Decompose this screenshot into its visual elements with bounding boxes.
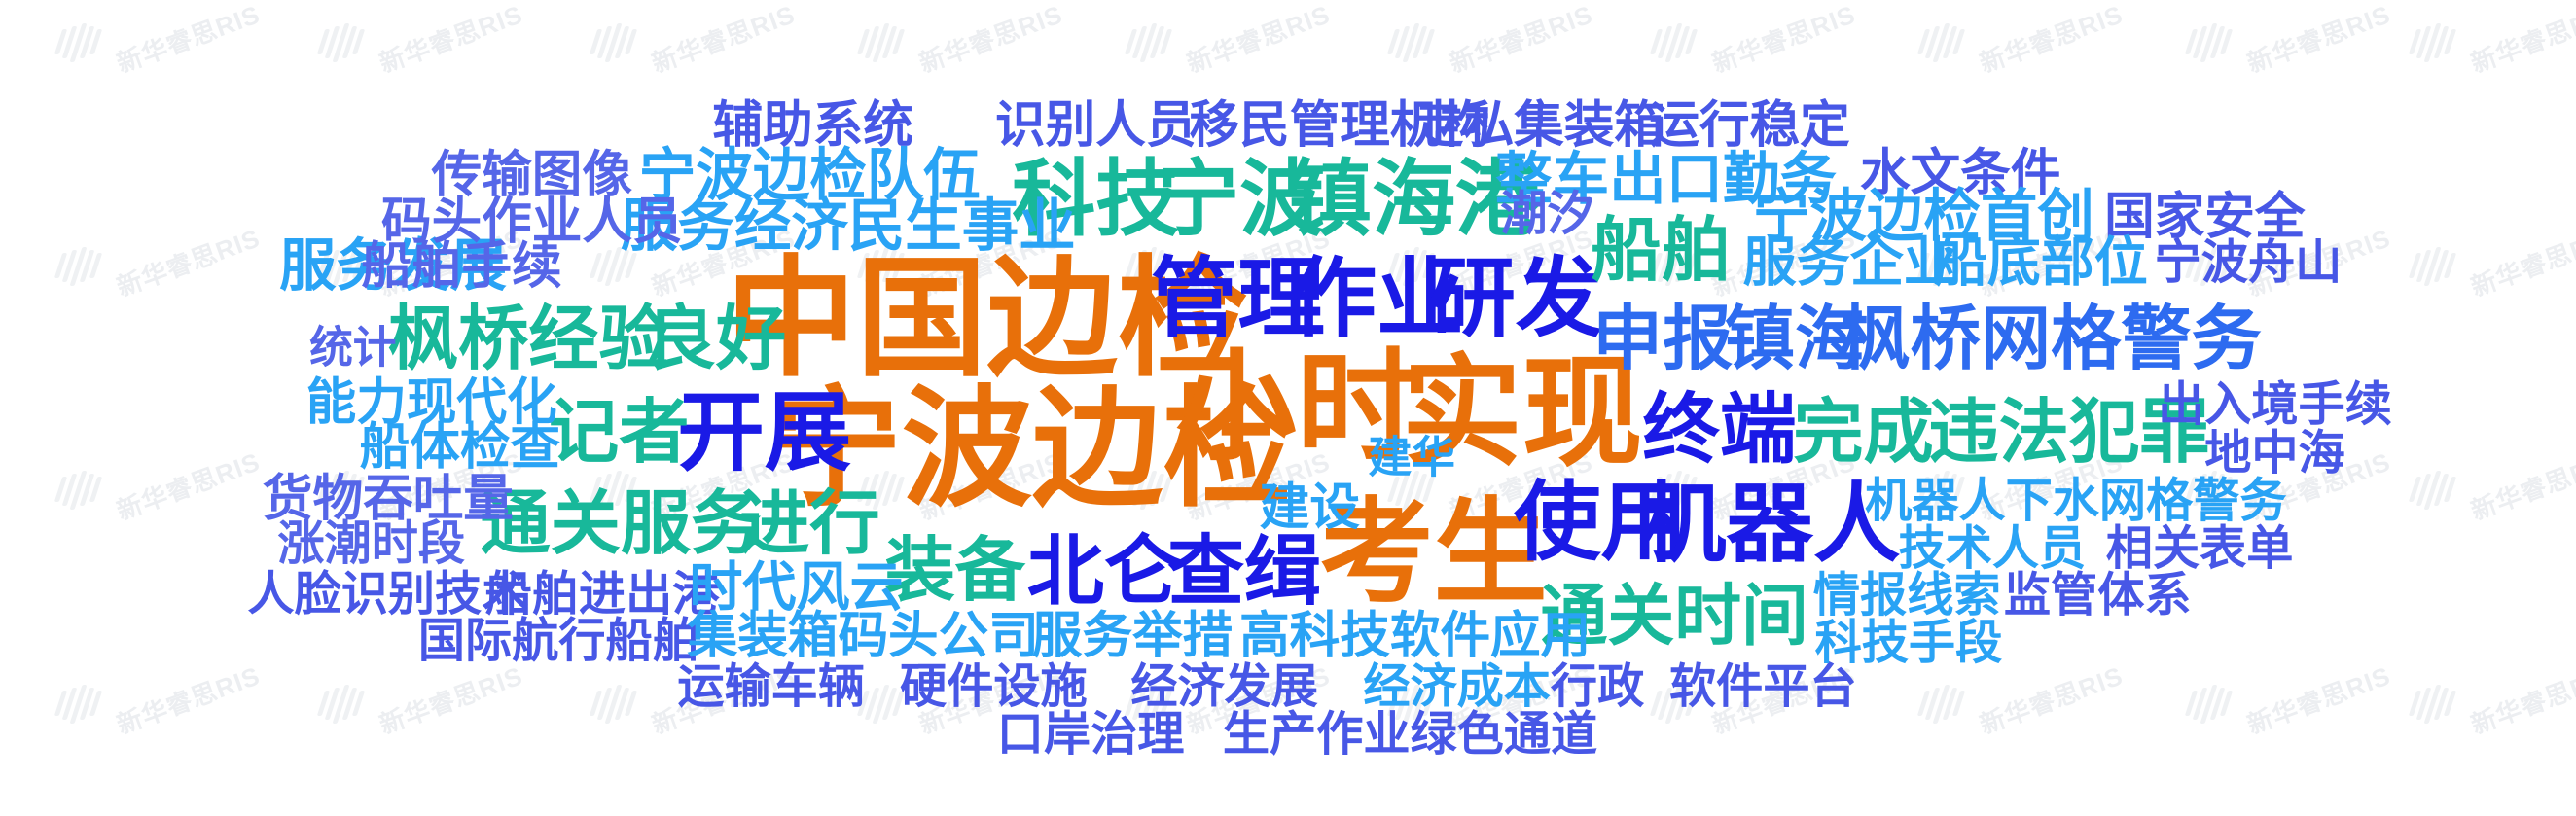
wordcloud-term[interactable]: 完成 xyxy=(1793,398,1933,468)
wordcloud-term[interactable]: 地中海 xyxy=(2204,430,2344,477)
wordcloud-term[interactable]: 开展 xyxy=(677,389,851,476)
wordcloud-term[interactable]: 船舶 xyxy=(1591,216,1731,286)
wordcloud-term[interactable]: 集装箱码头公司 xyxy=(688,612,1039,662)
wordcloud-term[interactable]: 装备 xyxy=(885,536,1025,606)
wordcloud-term[interactable]: 经济发展 xyxy=(1130,663,1318,710)
wordcloud-term[interactable]: 机器人下水 xyxy=(1865,478,2099,524)
wordcloud-term[interactable]: 建华 xyxy=(1369,437,1455,480)
wordcloud-term[interactable]: 船舶手续 xyxy=(361,241,561,292)
wordcloud-term[interactable]: 时代风云 xyxy=(689,561,903,615)
wordcloud-term[interactable]: 通关服务 xyxy=(480,489,761,559)
wordcloud-term[interactable]: 出入境手续 xyxy=(2158,381,2392,428)
wordcloud-term[interactable]: 软件平台 xyxy=(1669,663,1857,710)
wordcloud-term[interactable]: 北仑 xyxy=(1027,533,1181,610)
wordcloud-term[interactable]: 服务经济民生事业 xyxy=(621,198,1076,255)
wordcloud-term[interactable]: 走私集装箱 xyxy=(1413,100,1664,151)
wordcloud-term[interactable]: 船体检查 xyxy=(360,422,560,473)
wordcloud-term[interactable]: 终端 xyxy=(1643,391,1797,468)
wordcloud-term[interactable]: 技术人员 xyxy=(1899,525,2087,572)
wordcloud-term[interactable]: 识别人员 xyxy=(995,100,1196,151)
wordcloud-term[interactable]: 机器人 xyxy=(1639,480,1900,567)
wordcloud-term[interactable]: 枫桥经验 xyxy=(388,304,669,374)
wordcloud-term[interactable]: 枫桥网格警务 xyxy=(1840,304,2261,374)
wordcloud-term[interactable]: 船舶进出港 xyxy=(485,571,720,618)
wordcloud-term[interactable]: 船底部位 xyxy=(1934,236,2148,290)
wordcloud-term[interactable]: 查缉 xyxy=(1167,533,1321,610)
wordcloud-term[interactable]: 研发 xyxy=(1428,255,1602,341)
wordcloud-term[interactable]: 运行稳定 xyxy=(1649,100,1849,151)
word-layer: 中国边检宁波边检小时实现考生管理作业研发开展使用机器人北仑查缉终端科技宁波镇海港… xyxy=(0,0,2576,816)
wordcloud-term[interactable]: 运输车辆 xyxy=(677,663,865,710)
wordcloud-canvas: 新华睿思RIS新华睿思RIS新华睿思RIS新华睿思RIS新华睿思RIS新华睿思R… xyxy=(0,0,2576,816)
wordcloud-term[interactable]: 科技手段 xyxy=(1815,620,2003,666)
wordcloud-term[interactable]: 生产作业绿色通道 xyxy=(1223,711,1597,758)
wordcloud-term[interactable]: 良好 xyxy=(646,304,786,374)
wordcloud-term[interactable]: 统计 xyxy=(309,328,396,372)
wordcloud-term[interactable]: 服务举措 xyxy=(1032,612,1233,662)
wordcloud-term[interactable]: 进行 xyxy=(739,489,879,559)
wordcloud-term[interactable]: 申报 xyxy=(1592,304,1733,374)
wordcloud-term[interactable]: 服务企业 xyxy=(1743,236,1957,290)
wordcloud-term[interactable]: 情报线索 xyxy=(1813,572,2001,619)
wordcloud-term[interactable]: 口岸治理 xyxy=(997,711,1185,758)
wordcloud-term[interactable]: 高科技软件应用 xyxy=(1239,612,1591,662)
wordcloud-term[interactable]: 硬件设施 xyxy=(900,663,1088,710)
wordcloud-term[interactable]: 辅助系统 xyxy=(712,100,912,151)
wordcloud-term[interactable]: 宁波舟山 xyxy=(2155,239,2343,286)
wordcloud-term[interactable]: 行政 xyxy=(1551,663,1644,710)
wordcloud-term[interactable]: 涨潮时段 xyxy=(277,520,465,567)
wordcloud-term[interactable]: 记者 xyxy=(549,398,689,468)
wordcloud-term[interactable]: 网格警务 xyxy=(2099,478,2287,524)
wordcloud-term[interactable]: 建设 xyxy=(1260,482,1360,533)
wordcloud-term[interactable]: 经济成本 xyxy=(1363,663,1551,710)
wordcloud-term[interactable]: 相关表单 xyxy=(2106,525,2294,572)
wordcloud-term[interactable]: 国际航行船舶 xyxy=(418,618,699,664)
wordcloud-term[interactable]: 潮汐 xyxy=(1500,191,1593,237)
wordcloud-term[interactable]: 监管体系 xyxy=(2004,572,2192,619)
